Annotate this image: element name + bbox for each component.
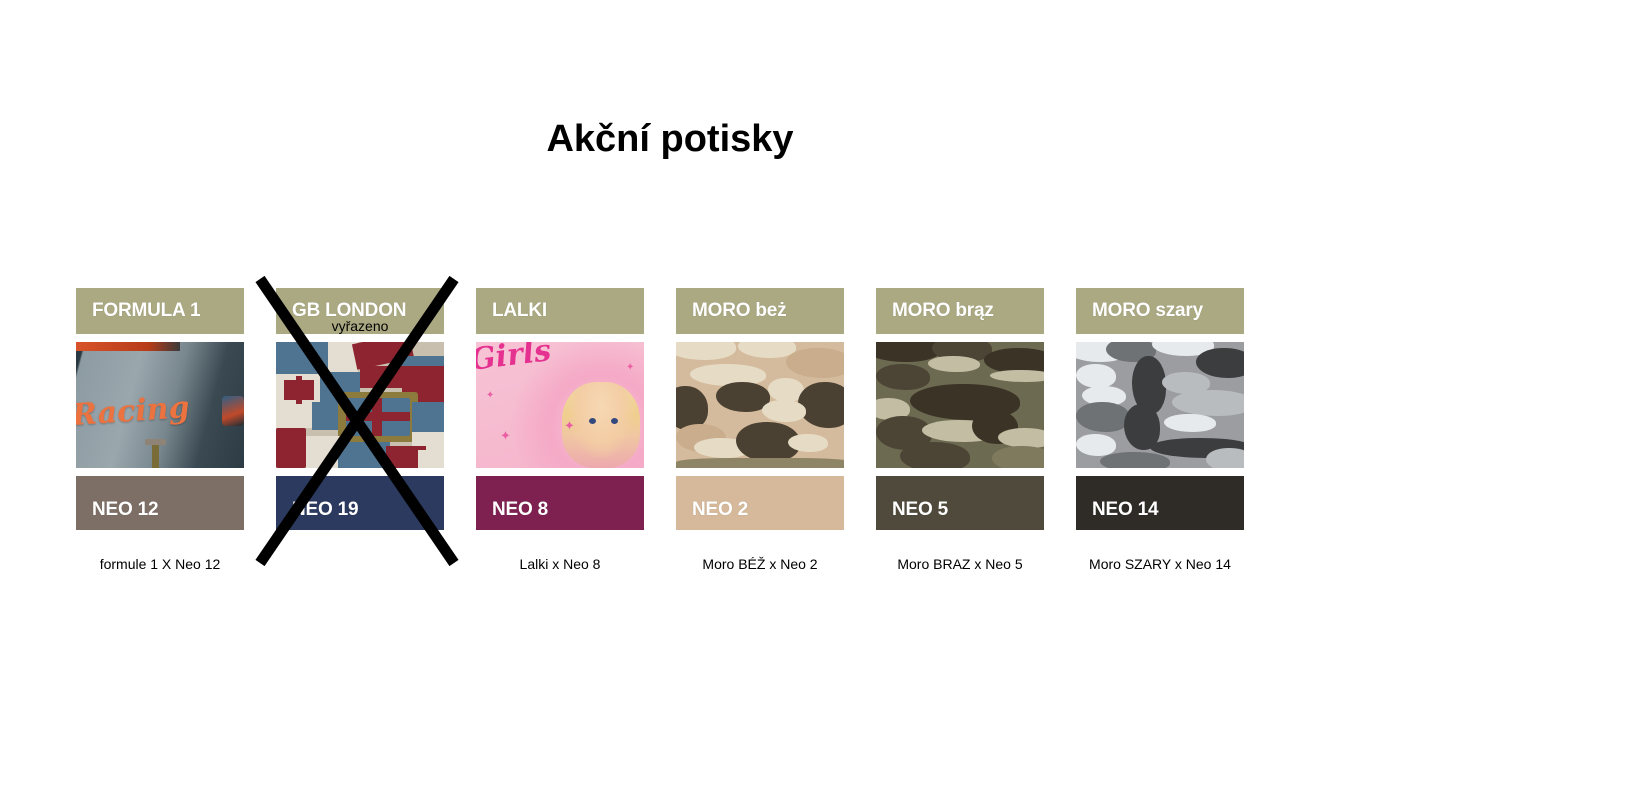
doll-script-text: Girls [476, 342, 553, 378]
star-icon: ✦ [626, 362, 634, 373]
card-footer-neo-8: NEO 8 [476, 476, 644, 530]
card-header-label: FORMULA 1 [92, 300, 200, 322]
print-card-moro-szary[interactable]: MORO szary NEO 14 Moro SZARY x Neo 14 [1076, 288, 1244, 530]
swatch-image-racing: Racing [76, 342, 244, 468]
card-footer-label: NEO 14 [1092, 499, 1158, 521]
swatch-image-union-jack [276, 342, 444, 468]
racing-car-detail [222, 396, 244, 426]
card-header-label: MORO szary [1092, 300, 1203, 322]
racing-stripe [76, 342, 180, 351]
print-card-lalki[interactable]: LALKI Girls ✦ ✦ ✦ ✦ NEO 8 Lalki x Neo 8 [476, 288, 644, 530]
card-header-label: MORO beż [692, 300, 786, 322]
racing-script-text: Racing [76, 390, 191, 433]
print-card-moro-bez[interactable]: MORO beż NEO 2 Moro BÉŽ x Neo 2 [676, 288, 844, 530]
card-header-lalki: LALKI [476, 288, 644, 334]
card-header-label: MORO brąz [892, 300, 994, 322]
swatch-image-brown-camo [876, 342, 1044, 468]
card-footer-label: NEO 2 [692, 499, 748, 521]
card-caption-formula-1: formule 1 X Neo 12 [76, 556, 244, 572]
print-card-moro-braz[interactable]: MORO brąz NEO 5 Moro BRAZ x Neo 5 [876, 288, 1044, 530]
card-footer-label: NEO 19 [292, 499, 358, 521]
card-header-formula-1: FORMULA 1 [76, 288, 244, 334]
card-header-moro-braz: MORO brąz [876, 288, 1044, 334]
swatch-image-grey-camo [1076, 342, 1244, 468]
star-icon: ✦ [486, 390, 494, 401]
doll-eye-right [611, 418, 618, 424]
doll-eye-left [589, 418, 596, 424]
card-caption-moro-szary: Moro SZARY x Neo 14 [1076, 556, 1244, 572]
swatch-image-beige-camo [676, 342, 844, 468]
card-footer-neo-2: NEO 2 [676, 476, 844, 530]
print-card-formula-1[interactable]: FORMULA 1 Racing NEO 12 formule 1 X Neo … [76, 288, 244, 530]
card-footer-neo-14: NEO 14 [1076, 476, 1244, 530]
racing-post-detail [152, 444, 159, 468]
card-footer-neo-12: NEO 12 [76, 476, 244, 530]
swatch-image-doll: Girls ✦ ✦ ✦ ✦ [476, 342, 644, 468]
star-icon: ✦ [500, 428, 511, 444]
card-footer-neo-5: NEO 5 [876, 476, 1044, 530]
card-header-moro-bez: MORO beż [676, 288, 844, 334]
card-footer-label: NEO 12 [92, 499, 158, 521]
card-header-label: LALKI [492, 300, 547, 322]
card-footer-label: NEO 5 [892, 499, 948, 521]
card-header-moro-szary: MORO szary [1076, 288, 1244, 334]
discontinued-note: vyřazeno [276, 318, 444, 334]
card-caption-moro-bez: Moro BÉŽ x Neo 2 [676, 556, 844, 572]
card-caption-lalki: Lalki x Neo 8 [476, 556, 644, 572]
print-card-gb-london[interactable]: GB LONDON vyřazeno [276, 288, 444, 530]
card-caption-moro-braz: Moro BRAZ x Neo 5 [876, 556, 1044, 572]
card-header-gb-london: GB LONDON vyřazeno [276, 288, 444, 334]
print-gallery: FORMULA 1 Racing NEO 12 formule 1 X Neo … [76, 288, 1376, 598]
star-icon: ✦ [564, 418, 575, 434]
page-title: Akční potisky [0, 118, 1340, 161]
card-footer-neo-19: NEO 19 [276, 476, 444, 530]
card-footer-label: NEO 8 [492, 499, 548, 521]
